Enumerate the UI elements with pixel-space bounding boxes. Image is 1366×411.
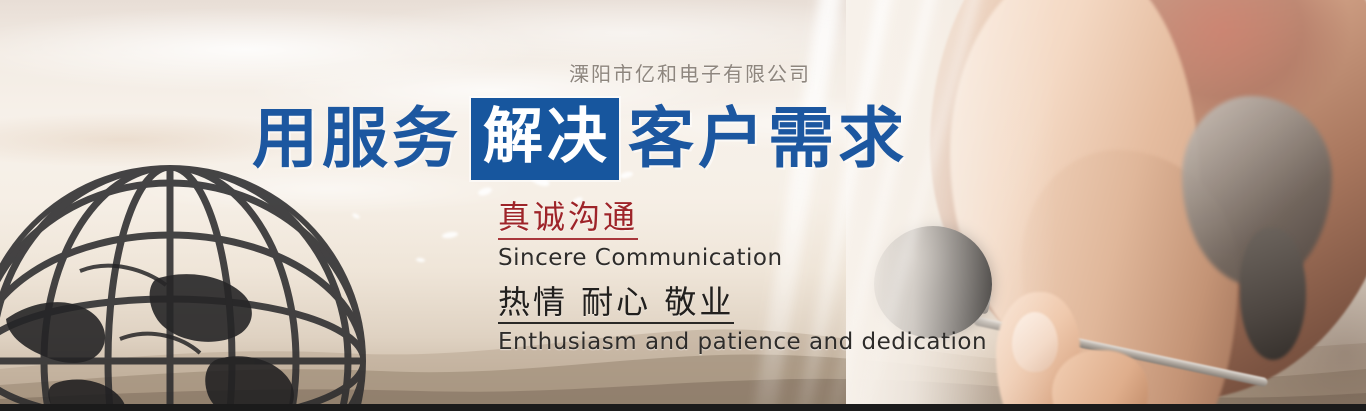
- hero-banner: 溧阳市亿和电子有限公司 用服务 解决 客户需求 真诚沟通 Sincere Com…: [0, 0, 1366, 411]
- slogan-cn-2: 热情 耐心 敬业: [498, 285, 734, 325]
- slogan-row-1: 真诚沟通 Sincere Communication: [498, 200, 987, 271]
- company-name: 溧阳市亿和电子有限公司: [569, 58, 811, 87]
- headline-before: 用服务: [252, 106, 462, 172]
- slogan-en-1: Sincere Communication: [498, 245, 987, 271]
- slogan-cn-1: 真诚沟通: [498, 200, 638, 240]
- slogan-row-2: 热情 耐心 敬业 Enthusiasm and patience and ded…: [498, 271, 987, 356]
- headline: 用服务 解决 客户需求: [252, 98, 908, 180]
- slogan-block: 真诚沟通 Sincere Communication 热情 耐心 敬业 Enth…: [498, 200, 987, 355]
- headline-highlight: 解决: [471, 98, 619, 180]
- banner-copy: 溧阳市亿和电子有限公司 用服务 解决 客户需求 真诚沟通 Sincere Com…: [0, 0, 900, 411]
- headline-after: 客户需求: [628, 106, 908, 172]
- slogan-en-2: Enthusiasm and patience and dedication: [498, 329, 987, 355]
- headset-earhook-icon: [1240, 228, 1306, 360]
- bottom-bar: [0, 404, 1366, 411]
